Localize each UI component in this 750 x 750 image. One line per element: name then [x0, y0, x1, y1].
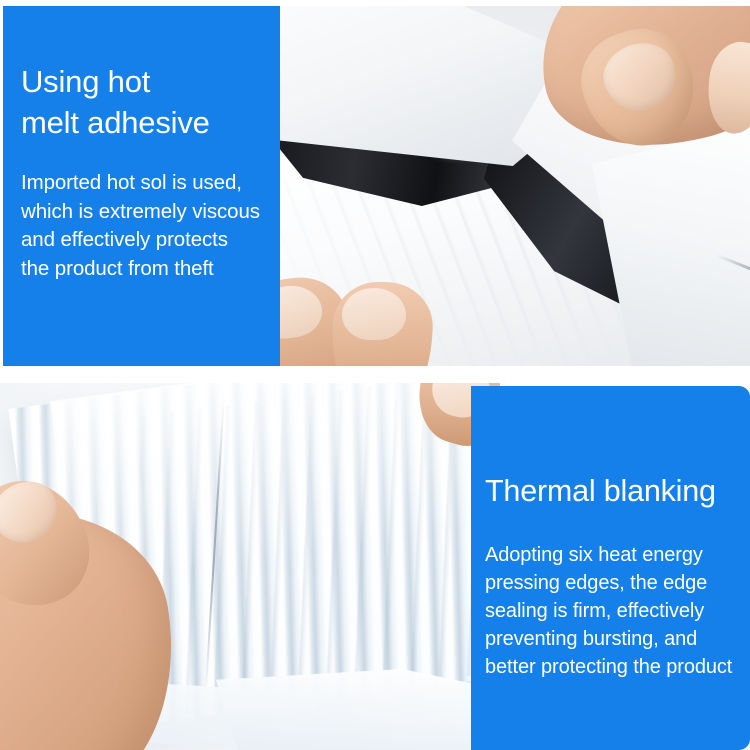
description-line: preventing bursting, and [485, 625, 732, 653]
feature-panel-hot-melt-adhesive: Using hot melt adhesive Imported hot sol… [0, 6, 750, 366]
title-line: melt adhesive [21, 102, 210, 143]
lower-fingernail-right [342, 288, 406, 340]
description-line: Imported hot sol is used, [21, 169, 260, 198]
feature-description-thermal-blanking: Adopting six heat energy pressing edges,… [485, 541, 732, 681]
description-line: the product from theft [21, 255, 260, 284]
feature-panel-thermal-blanking: Thermal blanking Adopting six heat energ… [0, 383, 750, 750]
loose-film-lower [216, 669, 500, 750]
description-line: and effectively protects [21, 226, 260, 255]
feature-textbox-thermal-blanking: Thermal blanking Adopting six heat energ… [471, 386, 750, 750]
product-photo-adhesive-peel [262, 6, 750, 366]
description-line: sealing is firm, effectively [485, 597, 732, 625]
product-photo-pleated-seal [0, 383, 500, 750]
description-line: pressing edges, the edge [485, 569, 732, 597]
description-line: better protecting the product [485, 653, 732, 681]
feature-title-hot-melt-adhesive: Using hot melt adhesive [21, 61, 210, 143]
product-feature-infographic: Using hot melt adhesive Imported hot sol… [0, 0, 750, 750]
feature-textbox-hot-melt-adhesive: Using hot melt adhesive Imported hot sol… [3, 6, 280, 366]
description-line: which is extremely viscous [21, 198, 260, 227]
feature-description-hot-melt-adhesive: Imported hot sol is used, which is extre… [21, 169, 260, 283]
title-line: Using hot [21, 61, 210, 102]
description-line: Adopting six heat energy [485, 541, 732, 569]
feature-title-thermal-blanking: Thermal blanking [485, 472, 716, 510]
